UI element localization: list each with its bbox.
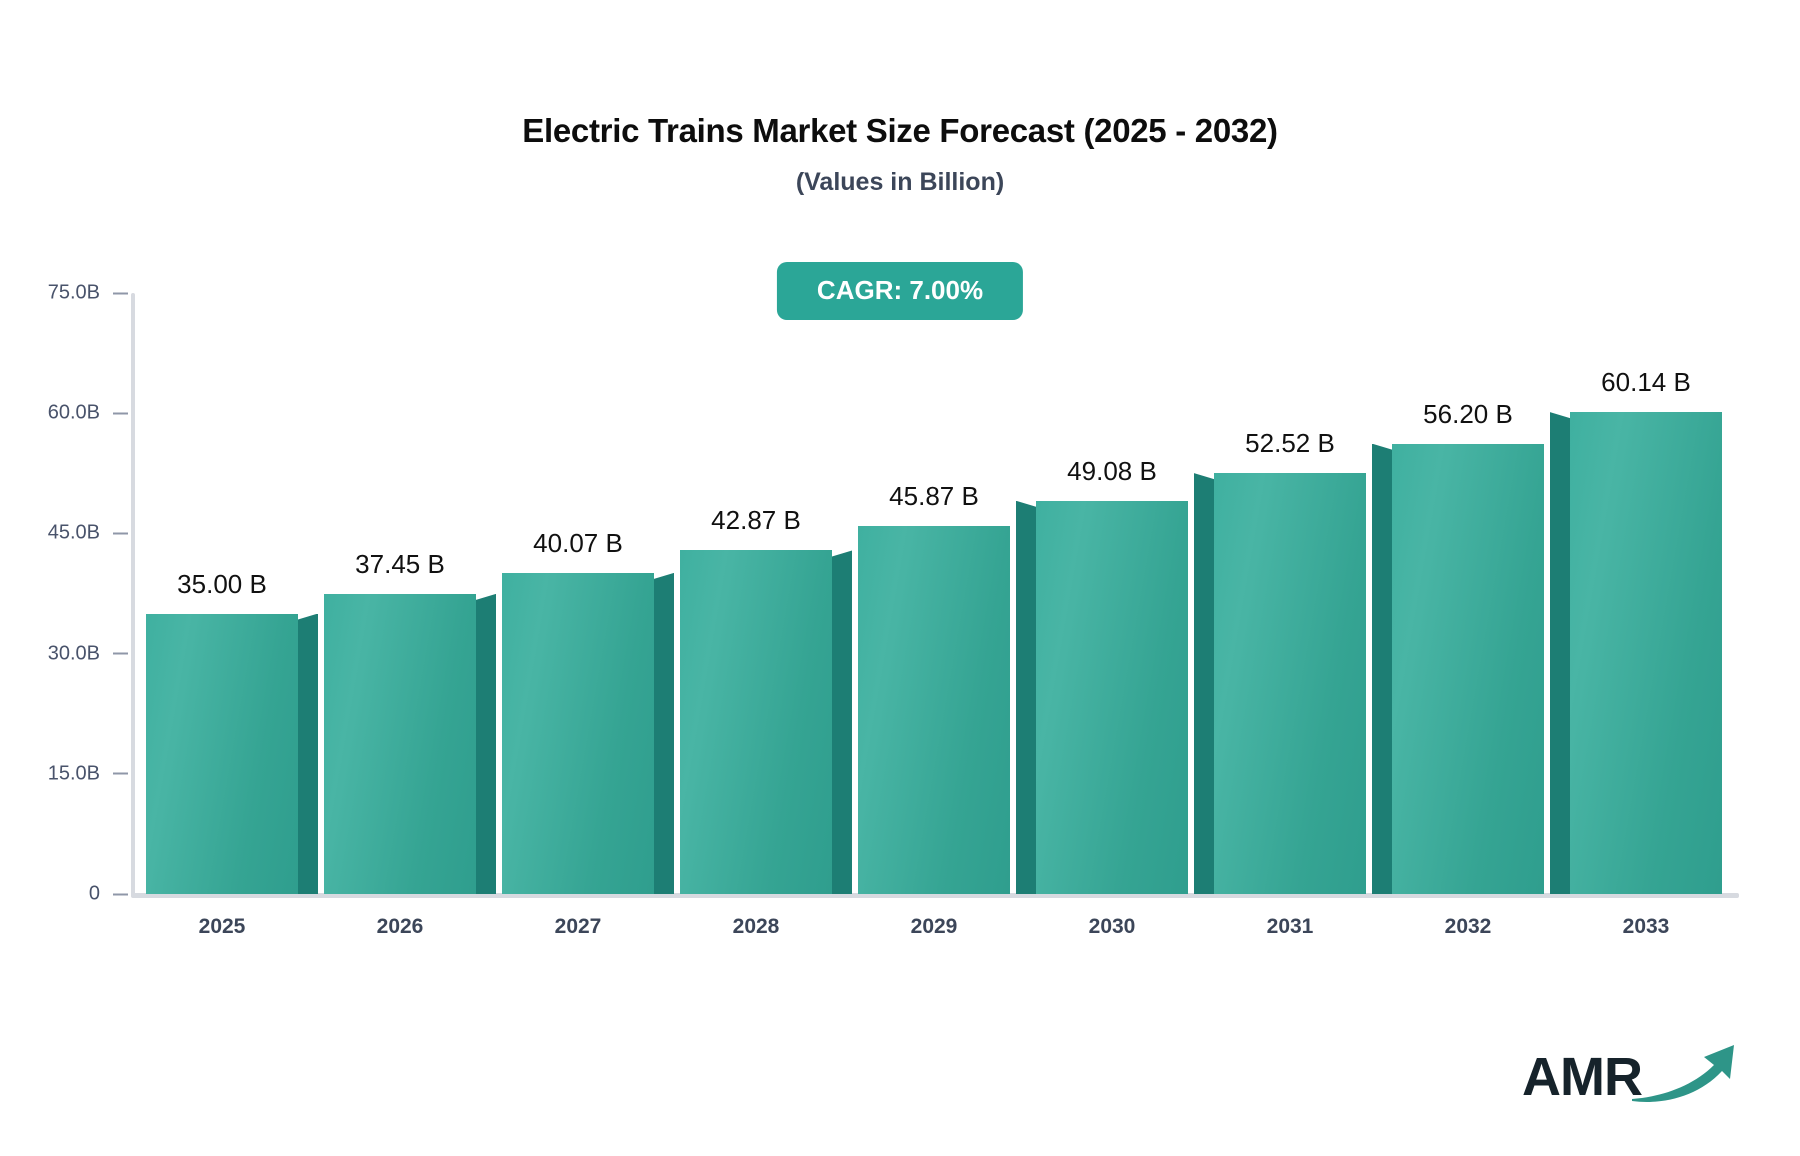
chart-canvas: Electric Trains Market Size Forecast (20…: [0, 0, 1800, 1156]
bar-side-face: [1016, 501, 1036, 894]
bar-series: 35.00 B37.45 B40.07 B42.87 B45.87 B49.08…: [133, 293, 1735, 894]
y-axis-tick-mark: [113, 653, 128, 655]
page-title: Electric Trains Market Size Forecast (20…: [0, 112, 1800, 150]
bar-value-label: 35.00 B: [177, 569, 267, 600]
bar-side-face: [1194, 473, 1214, 894]
amr-logo: AMR: [1522, 1039, 1740, 1114]
y-axis-tick: 15.0B: [48, 762, 128, 785]
x-axis-tick-label: 2031: [1201, 915, 1379, 939]
y-axis-tick-label: 30.0B: [48, 642, 100, 665]
y-axis-tick: 30.0B: [48, 642, 128, 665]
y-axis-tick-mark: [113, 412, 128, 414]
bar[interactable]: 45.87 B: [858, 526, 1010, 894]
y-axis-tick-label: 0: [89, 883, 100, 906]
y-axis-tick-mark: [113, 893, 128, 895]
y-axis-tick: 75.0B: [48, 282, 128, 305]
y-axis-tick: 0: [89, 883, 128, 906]
bar[interactable]: 52.52 B: [1214, 473, 1366, 894]
x-axis-tick-label: 2026: [311, 915, 489, 939]
bar-slot: 42.87 B: [667, 293, 845, 894]
y-axis-tick-label: 15.0B: [48, 762, 100, 785]
bar-slot: 60.14 B: [1557, 293, 1735, 894]
y-axis-tick-mark: [113, 773, 128, 775]
bar-front-face: [1214, 473, 1366, 894]
y-axis-tick-mark: [113, 292, 128, 294]
bar[interactable]: 40.07 B: [502, 573, 654, 894]
bar[interactable]: 42.87 B: [680, 550, 832, 894]
y-axis-tick: 60.0B: [48, 402, 128, 425]
bar-value-label: 40.07 B: [533, 528, 623, 559]
bar-front-face: [858, 526, 1010, 894]
bar-value-label: 52.52 B: [1245, 428, 1335, 459]
y-axis: 015.0B30.0B45.0B60.0B75.0B: [0, 0, 128, 1156]
bar-slot: 52.52 B: [1201, 293, 1379, 894]
bar-slot: 37.45 B: [311, 293, 489, 894]
bar[interactable]: 60.14 B: [1570, 412, 1722, 894]
x-axis-tick-label: 2033: [1557, 915, 1735, 939]
bar[interactable]: 37.45 B: [324, 594, 476, 894]
y-axis-tick: 45.0B: [48, 522, 128, 545]
bar[interactable]: 56.20 B: [1392, 444, 1544, 894]
y-axis-tick-label: 45.0B: [48, 522, 100, 545]
bar-front-face: [1392, 444, 1544, 894]
bar-slot: 56.20 B: [1379, 293, 1557, 894]
bar-value-label: 49.08 B: [1067, 456, 1157, 487]
x-axis-tick-label: 2030: [1023, 915, 1201, 939]
x-axis-tick-label: 2032: [1379, 915, 1557, 939]
bar-front-face: [324, 594, 476, 894]
y-axis-tick-label: 60.0B: [48, 402, 100, 425]
bar-front-face: [1036, 501, 1188, 894]
bar-front-face: [146, 614, 298, 894]
bar-slot: 45.87 B: [845, 293, 1023, 894]
bar-value-label: 56.20 B: [1423, 399, 1513, 430]
x-axis-tick-label: 2029: [845, 915, 1023, 939]
x-axis-labels: 202520262027202820292030203120322033: [133, 915, 1735, 939]
bar-value-label: 37.45 B: [355, 549, 445, 580]
bar-front-face: [1570, 412, 1722, 894]
y-axis-tick-label: 75.0B: [48, 282, 100, 305]
logo-text: AMR: [1522, 1050, 1642, 1104]
bar-side-face: [1372, 444, 1392, 894]
bar-slot: 35.00 B: [133, 293, 311, 894]
bar-value-label: 42.87 B: [711, 505, 801, 536]
bar-side-face: [1550, 412, 1570, 894]
x-axis-tick-label: 2027: [489, 915, 667, 939]
bar-value-label: 45.87 B: [889, 481, 979, 512]
bar-front-face: [502, 573, 654, 894]
bar-slot: 40.07 B: [489, 293, 667, 894]
bar-value-label: 60.14 B: [1601, 367, 1691, 398]
bar[interactable]: 35.00 B: [146, 614, 298, 894]
chart-subtitle: (Values in Billion): [0, 168, 1800, 197]
growth-arrow-icon: [1630, 1039, 1740, 1110]
x-axis-tick-label: 2025: [133, 915, 311, 939]
bar-front-face: [680, 550, 832, 894]
bar[interactable]: 49.08 B: [1036, 501, 1188, 894]
x-axis-tick-label: 2028: [667, 915, 845, 939]
y-axis-tick-mark: [113, 532, 128, 534]
bar-slot: 49.08 B: [1023, 293, 1201, 894]
